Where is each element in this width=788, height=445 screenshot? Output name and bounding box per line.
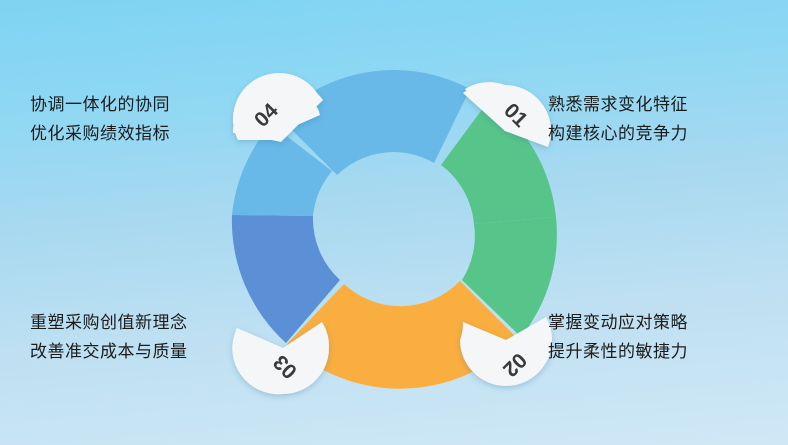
label-02-line-2: 提升柔性的敏捷力 [548, 337, 688, 366]
label-01: 熟悉需求变化特征 构建核心的竞争力 [548, 90, 688, 148]
label-04: 协调一体化的协同 优化采购绩效指标 [30, 90, 170, 148]
label-02-line-1: 掌握变动应对策略 [548, 308, 688, 337]
label-04-line-1: 协调一体化的协同 [30, 90, 170, 119]
label-03-line-1: 重塑采购创值新理念 [30, 308, 188, 337]
label-04-line-2: 优化采购绩效指标 [30, 119, 170, 148]
cycle-diagram: 04 01 03 02 [0, 0, 788, 445]
node-04[interactable] [233, 73, 325, 179]
label-03: 重塑采购创值新理念 改善准交成本与质量 [30, 308, 188, 366]
label-01-line-2: 构建核心的竞争力 [548, 119, 688, 148]
label-01-line-1: 熟悉需求变化特征 [548, 90, 688, 119]
slide-canvas: 04 01 03 02 协调一体化的协同 优化采购绩效指标 熟悉需求变化特征 构… [0, 0, 788, 445]
label-03-line-2: 改善准交成本与质量 [30, 337, 188, 366]
label-02: 掌握变动应对策略 提升柔性的敏捷力 [548, 308, 688, 366]
